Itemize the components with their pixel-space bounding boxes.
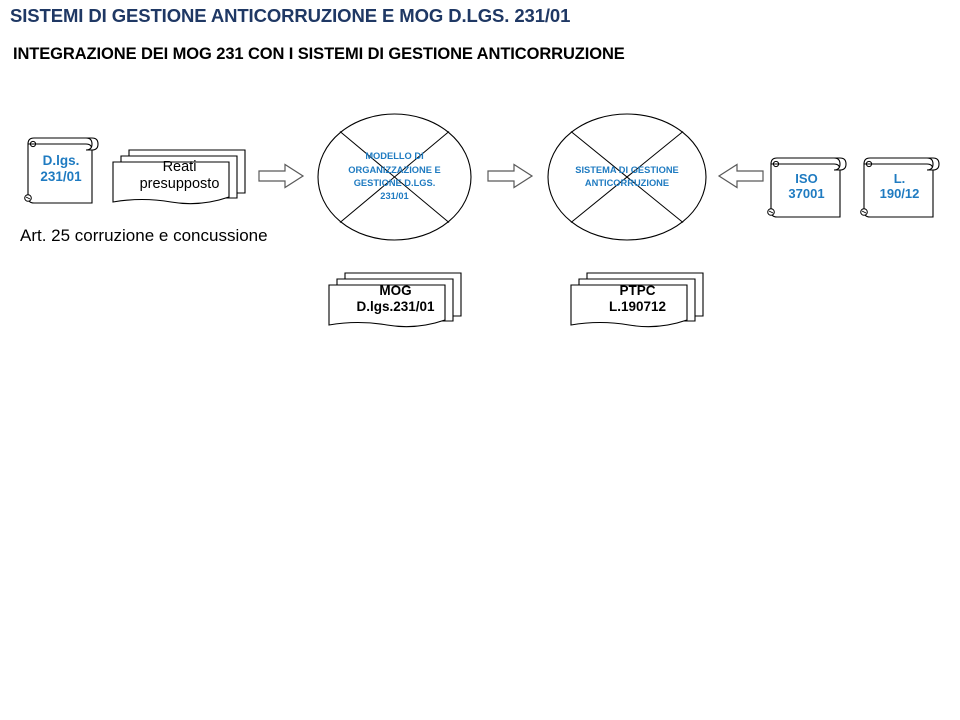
documents-ptpc-shape[interactable]: PTPC L.190712 <box>570 268 705 330</box>
arrow-norme-to-sistema <box>718 163 764 189</box>
slide-canvas: SISTEMI DI GESTIONE ANTICORRUZIONE E MOG… <box>0 0 960 720</box>
circle-modello-organizzazione-shape[interactable]: MODELLO DI ORGANIZZAZIONE E GESTIONE D.L… <box>317 113 472 241</box>
arrow-reati-to-modello <box>258 163 304 189</box>
scroll-dlgs-231-shape[interactable]: D.lgs. 231/01 <box>22 133 100 205</box>
caption-art-25: Art. 25 corruzione e concussione <box>20 226 268 246</box>
page-subtitle: INTEGRAZIONE DEI MOG 231 CON I SISTEMI D… <box>13 45 625 64</box>
arrow-modello-to-sistema <box>487 163 533 189</box>
documents-reati-presupposto-shape[interactable]: Reati presupposto <box>112 145 247 207</box>
scroll-iso-37001-shape[interactable]: ISO 37001 <box>765 153 848 219</box>
documents-mog-shape[interactable]: MOG D.lgs.231/01 <box>328 268 463 330</box>
page-title: SISTEMI DI GESTIONE ANTICORRUZIONE E MOG… <box>10 5 570 27</box>
circle-sistema-gestione-shape[interactable]: SISTEMA DI GESTIONE ANTICORRUZIONE <box>547 113 707 241</box>
scroll-legge-190-shape[interactable]: L. 190/12 <box>858 153 941 219</box>
